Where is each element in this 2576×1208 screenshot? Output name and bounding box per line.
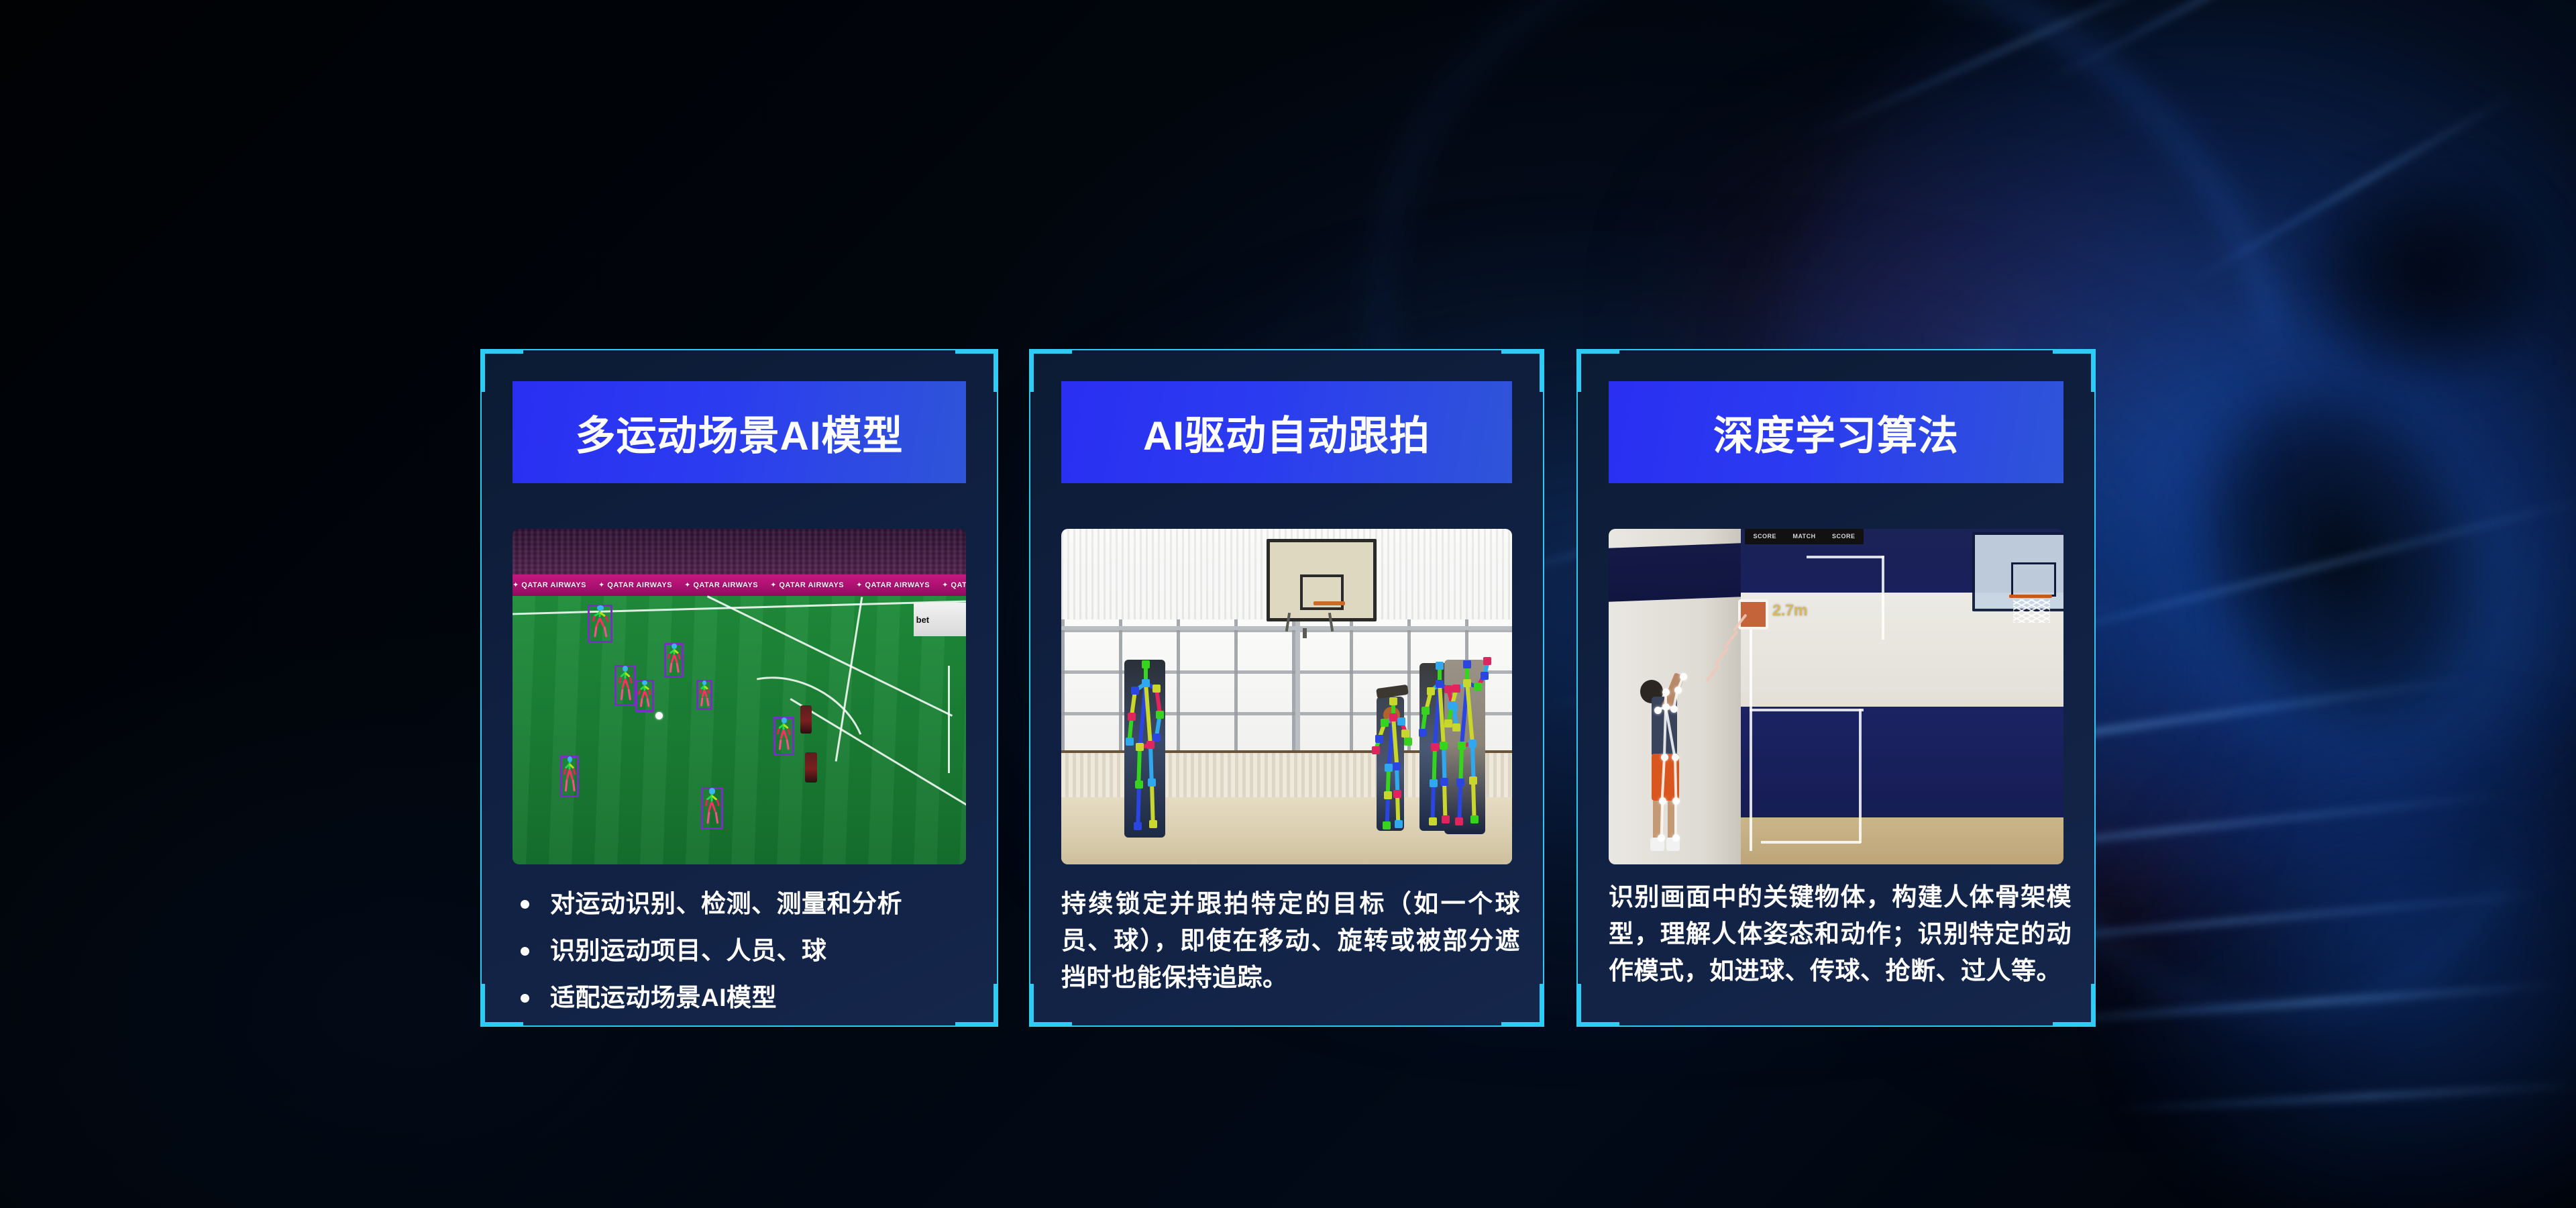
player-pose-skeleton: [664, 643, 683, 678]
sponsor-banner: ✦ QATAR AIRWAYS✦ QATAR AIRWAYS✦ QATAR AI…: [513, 574, 966, 597]
feature-card-row: 多运动场景AI模型✦ QATAR AIRWAYS✦ QATAR AIRWAYS✦…: [480, 349, 2096, 1027]
media-artwork: ✦ QATAR AIRWAYS✦ QATAR AIRWAYS✦ QATAR AI…: [513, 529, 966, 864]
card-body: 持续锁定并跟拍特定的目标（如一个球员、球），即使在移动、旋转或被部分遮挡时也能保…: [1061, 886, 1520, 996]
pose-bone: [1664, 693, 1667, 707]
sponsor-banner-text: ✦ QATAR AIRWAYS: [598, 581, 684, 589]
pose-skeleton: [1116, 653, 1174, 841]
opponent-player: [800, 705, 812, 734]
pose-skeleton: [1440, 650, 1494, 834]
player-pose-skeleton: [696, 680, 712, 710]
sponsor-sign: bet: [914, 603, 966, 636]
scoreboard-label: SCORE: [1832, 533, 1856, 540]
feature-card-deep-learning-algorithm: 深度学习算法SCOREMATCHSCORE2.7m识别画面中的关键物体，构建人体…: [1576, 349, 2096, 1027]
soccer-pitch: [513, 596, 966, 864]
card-bullet-item: 对运动识别、检测、测量和分析: [513, 886, 974, 923]
court-ref-line-right: [1859, 709, 1862, 843]
shot-measurement-thumbnail: SCOREMATCHSCORE2.7m: [1609, 529, 2063, 864]
sponsor-banner-text: ✦ QATAR AIRWAYS: [513, 581, 598, 589]
card-content: 多运动场景AI模型✦ QATAR AIRWAYS✦ QATAR AIRWAYS✦…: [480, 349, 998, 1027]
card-bullet-item: 适配运动场景AI模型: [513, 980, 974, 1017]
window-mullion: [1295, 619, 1300, 757]
sponsor-banner-text: ✦ QATAR AIRWAYS: [856, 581, 942, 589]
hoop-mount: [1303, 628, 1307, 638]
pose-skeleton: [1368, 690, 1413, 834]
basketball-rim: [1313, 601, 1345, 605]
basketball-rim: [2009, 595, 2052, 598]
card-bullet-list: 对运动识别、检测、测量和分析识别运动项目、人员、球适配运动场景AI模型: [513, 886, 974, 1016]
court-ref-line-bottom: [1761, 841, 1861, 844]
measurement-label: 2.7m: [1772, 601, 1807, 619]
measure-line-top: [1807, 556, 1884, 558]
soccer-ball: [655, 712, 663, 719]
card-bullet-item: 识别运动项目、人员、球: [513, 933, 974, 970]
media-artwork: SCOREMATCHSCORE2.7m: [1609, 529, 2063, 864]
scoreboard-label: MATCH: [1792, 533, 1815, 540]
player-pose-skeleton: [588, 605, 613, 644]
pose-bone: [1674, 757, 1677, 801]
card-title-ai-auto-tracking: AI驱动自动跟拍: [1061, 381, 1512, 483]
stadium-crowd: [513, 529, 966, 576]
backboard-inner-square: [2011, 562, 2056, 597]
card-body: 对运动识别、检测、测量和分析识别运动项目、人员、球适配运动场景AI模型: [513, 886, 974, 1026]
card-body: 识别画面中的关键物体，构建人体骨架模型，理解人体姿态和动作；识别特定的动作模式，…: [1609, 879, 2072, 989]
measure-line-vertical: [1882, 556, 1884, 640]
scoreboard-label: SCORE: [1754, 533, 1777, 540]
measure-line-drop: [1750, 609, 1752, 851]
pose-bone: [1660, 801, 1663, 838]
sponsor-banner-text: ✦ QATAR AIRWAYS: [942, 581, 966, 589]
player-pose-skeleton: [614, 665, 636, 707]
scoreboard: SCOREMATCHSCORE: [1745, 529, 1863, 544]
court-ref-line-top: [1750, 709, 1864, 711]
feature-card-multi-sport-ai-model: 多运动场景AI模型✦ QATAR AIRWAYS✦ QATAR AIRWAYS✦…: [480, 349, 998, 1027]
card-content: 深度学习算法SCOREMATCHSCORE2.7m识别画面中的关键物体，构建人体…: [1576, 349, 2096, 1027]
column-dark-band: [1609, 543, 1741, 602]
player-pose-skeleton: [773, 717, 794, 756]
pose-bone: [1674, 801, 1677, 838]
media-artwork: [1061, 529, 1512, 864]
ball-tracking-box: [1738, 599, 1768, 630]
feature-card-ai-auto-tracking: AI驱动自动跟拍持续锁定并跟拍特定的目标（如一个球员、球），即使在移动、旋转或被…: [1029, 349, 1544, 1027]
basketball-net: [2013, 599, 2049, 623]
player-pose-skeleton: [701, 787, 724, 829]
background-ribbon-hole-upper: [2308, 174, 2549, 376]
gym-pose-tracking-thumbnail: [1061, 529, 1512, 864]
card-content: AI驱动自动跟拍持续锁定并跟拍特定的目标（如一个球员、球），即使在移动、旋转或被…: [1029, 349, 1544, 1027]
card-title-multi-sport-ai-model: 多运动场景AI模型: [513, 381, 966, 483]
soccer-detection-thumbnail: ✦ QATAR AIRWAYS✦ QATAR AIRWAYS✦ QATAR AI…: [513, 529, 966, 864]
sponsor-banner-text: ✦ QATAR AIRWAYS: [684, 581, 770, 589]
pitch-goal-line: [948, 666, 950, 773]
card-title-deep-learning-algorithm: 深度学习算法: [1609, 381, 2063, 483]
sponsor-banner-text: ✦ QATAR AIRWAYS: [770, 581, 856, 589]
slide-canvas: 多运动场景AI模型✦ QATAR AIRWAYS✦ QATAR AIRWAYS✦…: [0, 0, 2576, 1208]
player-pose-skeleton: [635, 680, 654, 712]
player-pose-skeleton: [560, 756, 579, 798]
opponent-player: [805, 752, 817, 783]
